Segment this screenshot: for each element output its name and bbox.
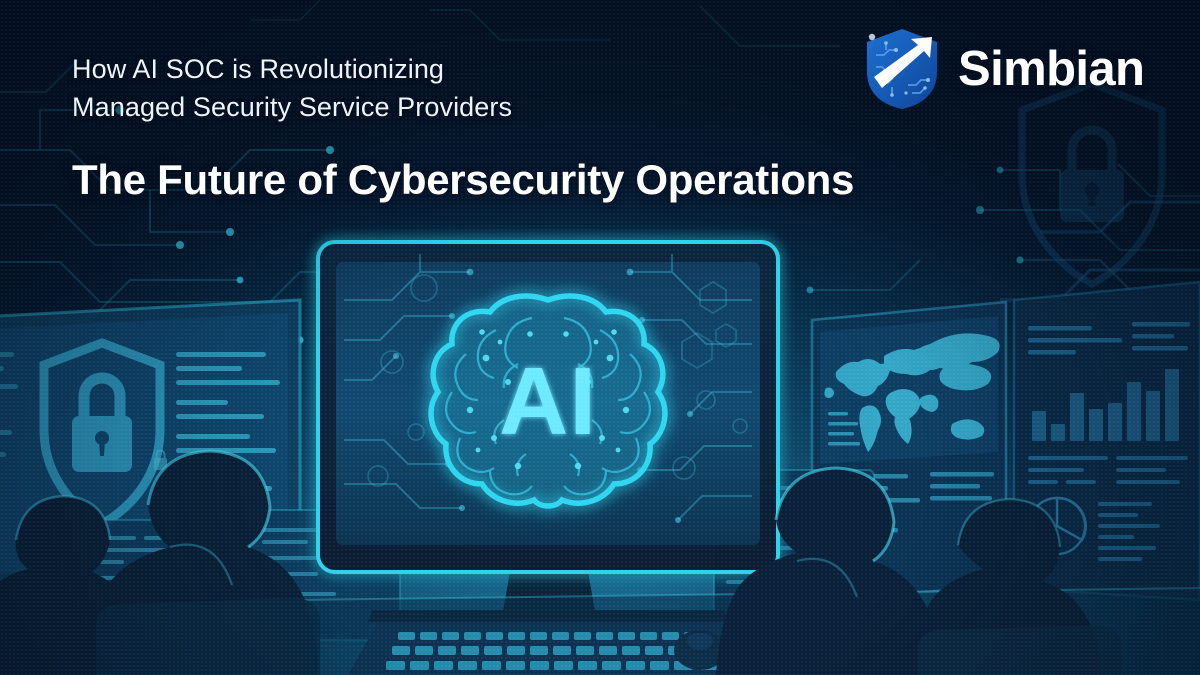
hero-subtitle: How AI SOC is Revolutionizing Managed Se…	[72, 50, 732, 126]
shield-arrow-circuit-icon	[862, 27, 942, 111]
analyst-silhouette-left	[86, 451, 320, 675]
hero-headline: The Future of Cybersecurity Operations	[72, 155, 1072, 205]
hero-banner: AI	[0, 0, 1200, 675]
analyst-silhouette-far-right	[912, 499, 1122, 675]
brand-logo[interactable]: Simbian	[862, 27, 1144, 111]
analyst-silhouette-right	[716, 468, 942, 675]
brand-wordmark: Simbian	[958, 41, 1144, 97]
